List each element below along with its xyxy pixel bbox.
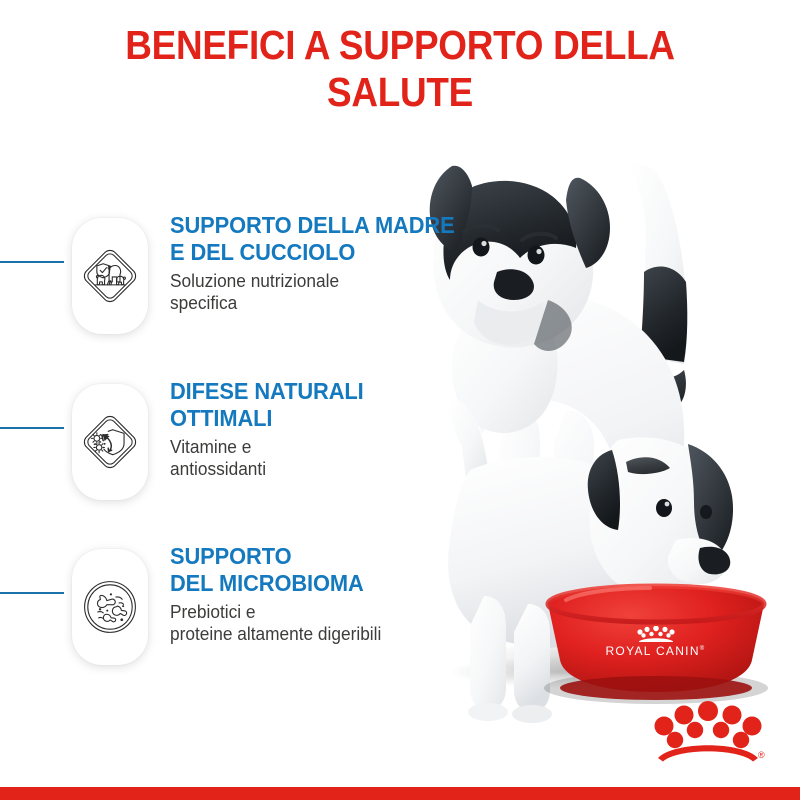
- bowl-label: ROYAL CANIN®: [548, 644, 763, 658]
- benefit-text: DIFESE NATURALI OTTIMALI Vitamine e anti…: [170, 378, 510, 480]
- benefit-title: SUPPORTO DELLA MADRE E DEL CUCCIOLO: [170, 212, 493, 266]
- benefit-subtitle: Soluzione nutrizionale specifica: [170, 270, 496, 314]
- trademark-symbol: ®: [758, 750, 765, 760]
- microbiome-icon: [81, 578, 139, 636]
- mother-and-puppy-icon: [81, 247, 139, 305]
- benefit-text: SUPPORTO DELLA MADRE E DEL CUCCIOLO Solu…: [170, 212, 510, 314]
- connector-line: [0, 427, 64, 429]
- shield-defense-icon: [81, 413, 139, 471]
- icon-card: [72, 218, 148, 334]
- footer-bar: [0, 787, 800, 800]
- benefit-text: SUPPORTO DEL MICROBIOMA Prebiotici e pro…: [170, 543, 510, 645]
- benefit-subtitle: Prebiotici e proteine altamente digeribi…: [170, 601, 496, 645]
- benefit-title: SUPPORTO DEL MICROBIOMA: [170, 543, 493, 597]
- benefit-row-mother-and-puppy: SUPPORTO DELLA MADRE E DEL CUCCIOLO Solu…: [0, 212, 520, 362]
- connector-line: [0, 592, 64, 594]
- icon-card: [72, 549, 148, 665]
- royal-canin-crown-logo: ®: [648, 700, 768, 762]
- connector-line: [0, 261, 64, 263]
- benefit-title: DIFESE NATURALI OTTIMALI: [170, 378, 493, 432]
- benefit-subtitle: Vitamine e antiossidanti: [170, 436, 496, 480]
- page-title: BENEFICI A SUPPORTO DELLA SALUTE: [94, 22, 706, 116]
- benefit-row-microbiome: SUPPORTO DEL MICROBIOMA Prebiotici e pro…: [0, 543, 520, 693]
- bowl-branding: ROYAL CANIN®: [548, 588, 763, 698]
- icon-card: [72, 384, 148, 500]
- benefit-row-natural-defenses: DIFESE NATURALI OTTIMALI Vitamine e anti…: [0, 378, 520, 528]
- promo-canvas: BENEFICI A SUPPORTO DELLA SALUTE: [0, 0, 800, 800]
